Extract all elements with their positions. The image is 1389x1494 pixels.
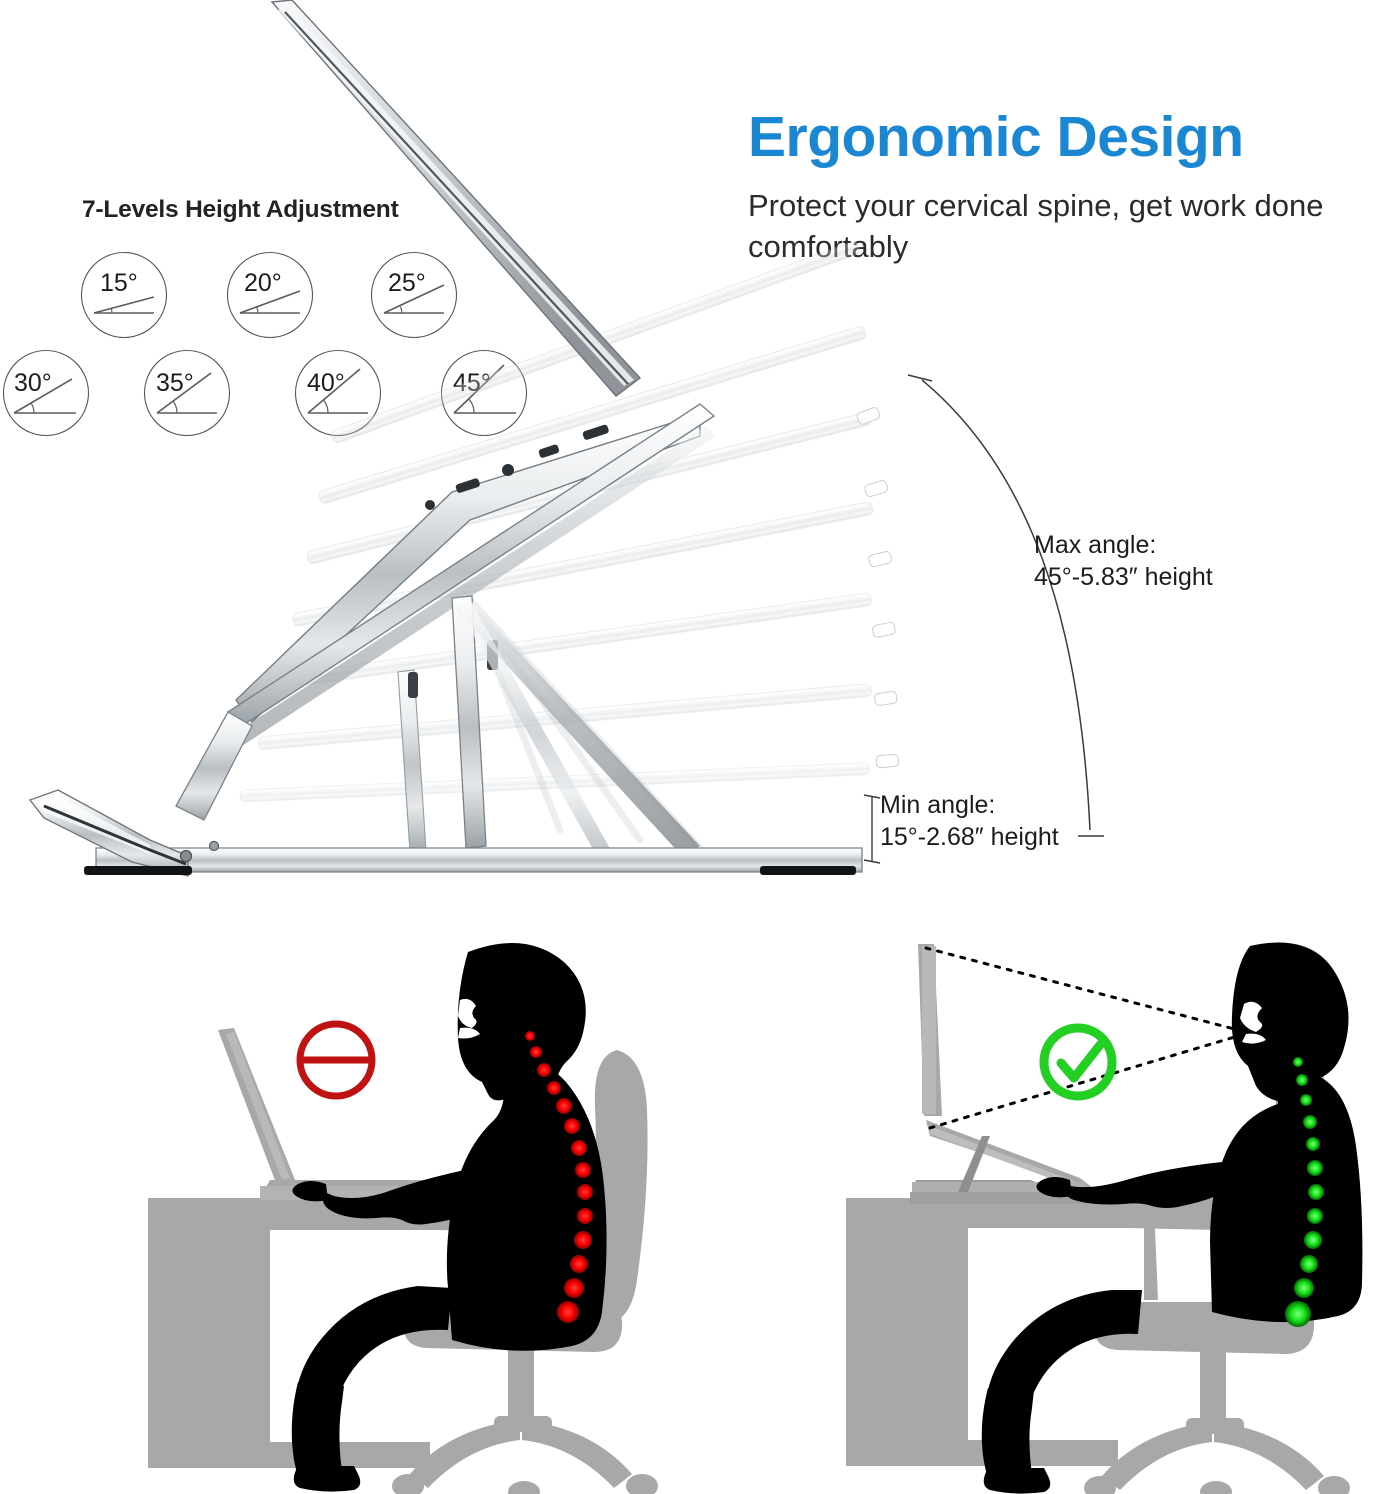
min-angle-annotation: Min angle: 15°-2.68″ height [880, 789, 1059, 853]
angle-range-arc [880, 350, 1140, 860]
max-angle-annotation: Max angle: 45°-5.83″ height [1034, 529, 1213, 593]
bad-posture-illustration [130, 930, 730, 1494]
prohibition-sign-icon [300, 1024, 372, 1096]
laptop-flat [218, 1028, 478, 1200]
max-angle-line2: 45°-5.83″ height [1034, 561, 1213, 593]
max-angle-line1: Max angle: [1034, 529, 1213, 561]
sight-lines [926, 948, 1238, 1128]
infographic-page: Ergonomic Design Protect your cervical s… [0, 0, 1389, 1494]
checkmark-circle-icon [1044, 1028, 1112, 1096]
min-angle-line2: 15°-2.68″ height [880, 821, 1059, 853]
min-angle-line1: Min angle: [880, 789, 1059, 821]
product-photo-laptop-stand [0, 0, 900, 900]
good-posture-illustration [830, 930, 1389, 1494]
